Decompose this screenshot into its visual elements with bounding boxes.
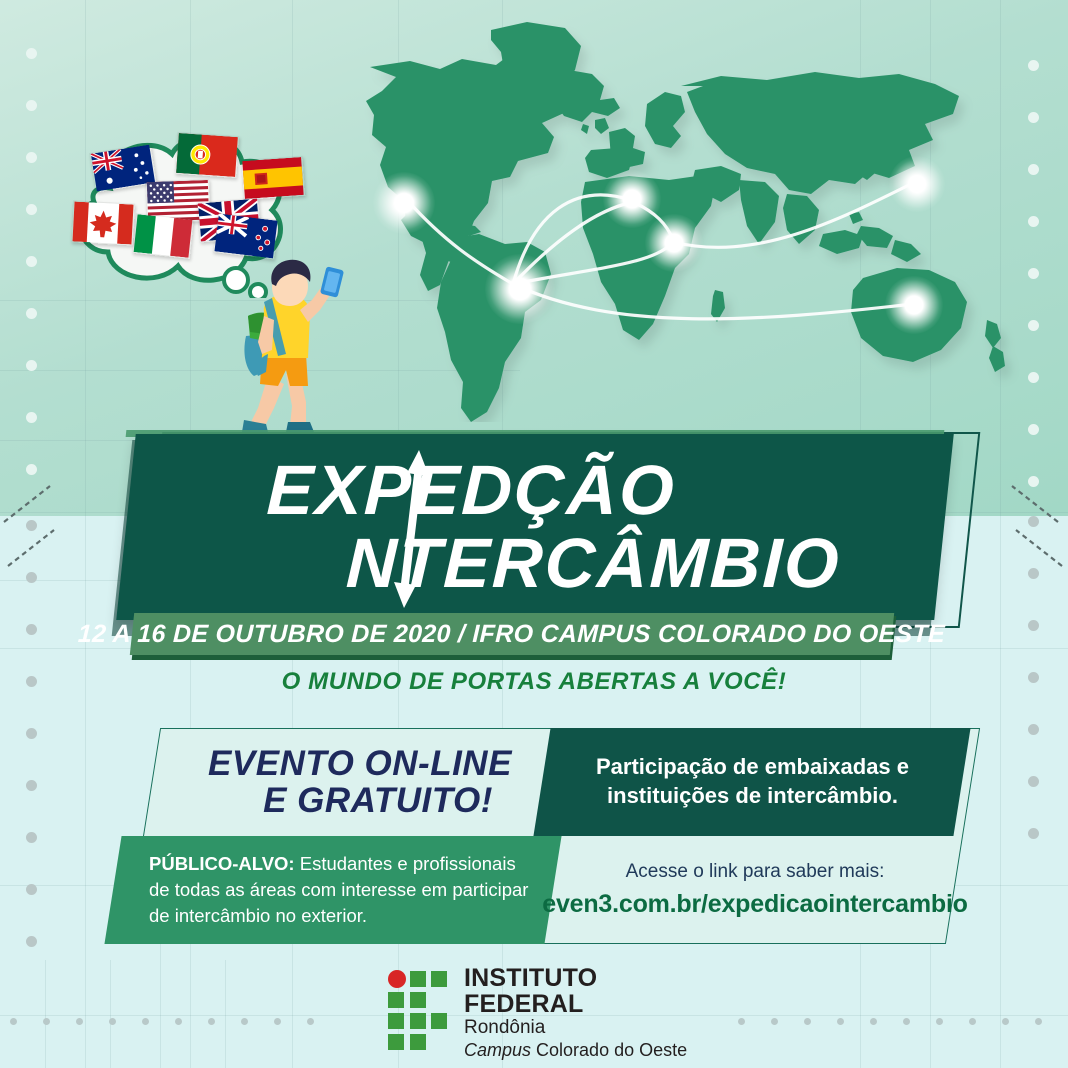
audience-cell: PÚBLICO-ALVO: Estudantes e profissionais…: [135, 838, 540, 942]
world-map: [295, 12, 1068, 422]
link-cell: Acesse o link para saber mais: even3.com…: [555, 838, 955, 942]
dash-marks-right: [1000, 480, 1068, 580]
online-free-cell: EVENTO ON-LINE E GRATUITO!: [165, 728, 555, 836]
instituto-federal-mark-icon: [388, 970, 448, 1056]
portugal-flag: [175, 132, 240, 178]
spain-flag: [241, 156, 306, 200]
logo-line-1: INSTITUTO FEDERAL: [464, 965, 688, 1018]
audience-label: PÚBLICO-ALVO:: [149, 853, 295, 874]
dot-column-left-upper: [26, 0, 40, 516]
event-url[interactable]: even3.com.br/expedicaointercambio: [542, 890, 968, 919]
dot-row-bottom-left: [10, 1018, 340, 1025]
logo-campus-word: Campus: [464, 1040, 531, 1060]
italy-flag: [132, 213, 194, 259]
logo-line-2: Rondônia: [464, 1017, 688, 1040]
new-zealand-flag: [213, 212, 279, 259]
logo-line-3: Campus Colorado do Oeste: [464, 1040, 688, 1062]
embassies-line-2: instituições de intercâmbio.: [607, 782, 898, 811]
dot-row-bottom-right: [738, 1018, 1068, 1025]
audience-paragraph: PÚBLICO-ALVO: Estudantes e profissionais…: [149, 851, 540, 930]
dot-column-left-lower: [26, 516, 40, 976]
logo-campus-name: Colorado do Oeste: [531, 1040, 687, 1060]
map-node-north-america: [373, 172, 435, 234]
online-label-line-1: EVENTO ON-LINE: [208, 745, 512, 782]
map-node-brazil-hub: [485, 254, 555, 324]
dash-marks-left: [0, 480, 80, 580]
embassies-cell: Participação de embaixadas e instituiçõe…: [550, 728, 955, 836]
canada-flag: [71, 200, 135, 245]
map-node-europe: [603, 170, 661, 228]
logo-wordmark: INSTITUTO FEDERAL Rondônia Campus Colora…: [464, 965, 688, 1062]
date-bar-label: 12 A 16 DE OUTUBRO DE 2020 / IFRO CAMPUS…: [78, 620, 946, 649]
link-prompt: Acesse o link para saber mais:: [626, 861, 885, 883]
title-banner: [116, 434, 954, 620]
double-arrow-icon: [389, 444, 433, 612]
map-node-australia: [885, 276, 943, 334]
map-node-asia: [889, 156, 945, 212]
logo-red-dot: [388, 970, 406, 988]
institutional-logo: INSTITUTO FEDERAL Rondônia Campus Colora…: [388, 966, 688, 1060]
poster-root: EXPEDÇÃO NTERCÂMBIO 12 A 16 DE OUTUBRO D…: [0, 0, 1068, 1068]
student-illustration: [228, 258, 348, 438]
date-bar: 12 A 16 DE OUTUBRO DE 2020 / IFRO CAMPUS…: [130, 613, 894, 655]
online-label-line-2: E GRATUITO!: [263, 782, 493, 819]
map-node-africa: [645, 214, 703, 272]
embassies-line-1: Participação de embaixadas e: [596, 753, 909, 782]
tagline: O MUNDO DE PORTAS ABERTAS A VOCÊ!: [0, 668, 1068, 696]
info-panel: EVENTO ON-LINE E GRATUITO! Participação …: [105, 728, 963, 944]
